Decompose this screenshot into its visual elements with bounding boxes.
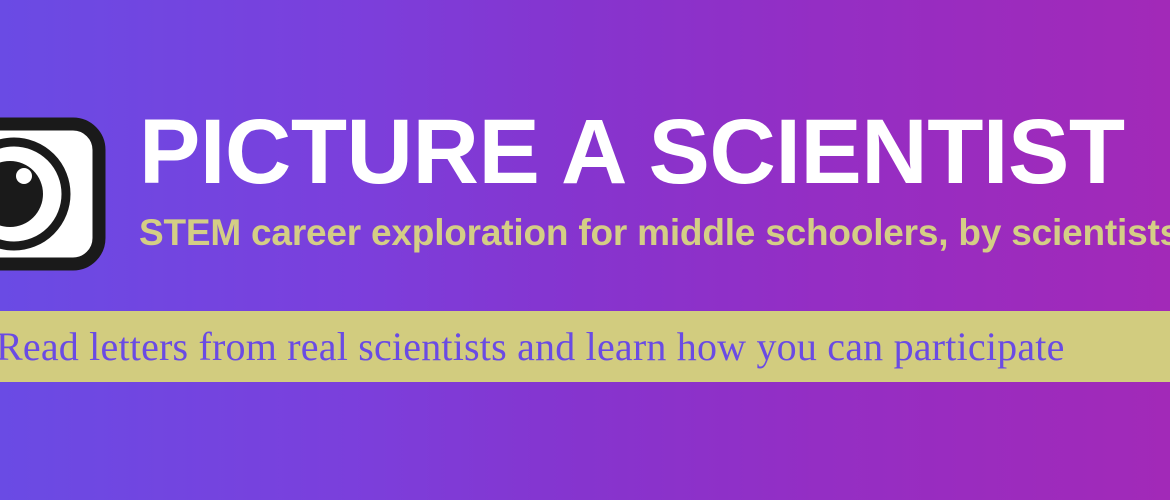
promo-banner[interactable]: Read letters from real scientists and le… [0,311,1170,382]
promo-banner-text: Read letters from real scientists and le… [0,311,1065,382]
headline-block: PICTURE A SCIENTIST STEM career explorat… [139,104,1170,257]
camera-lens-icon [0,117,106,271]
site-logo[interactable] [0,117,106,271]
page-title: PICTURE A SCIENTIST [139,104,1170,200]
hero-banner: PICTURE A SCIENTIST STEM career explorat… [0,0,1170,500]
page-subtitle: STEM career exploration for middle schoo… [139,209,1170,257]
